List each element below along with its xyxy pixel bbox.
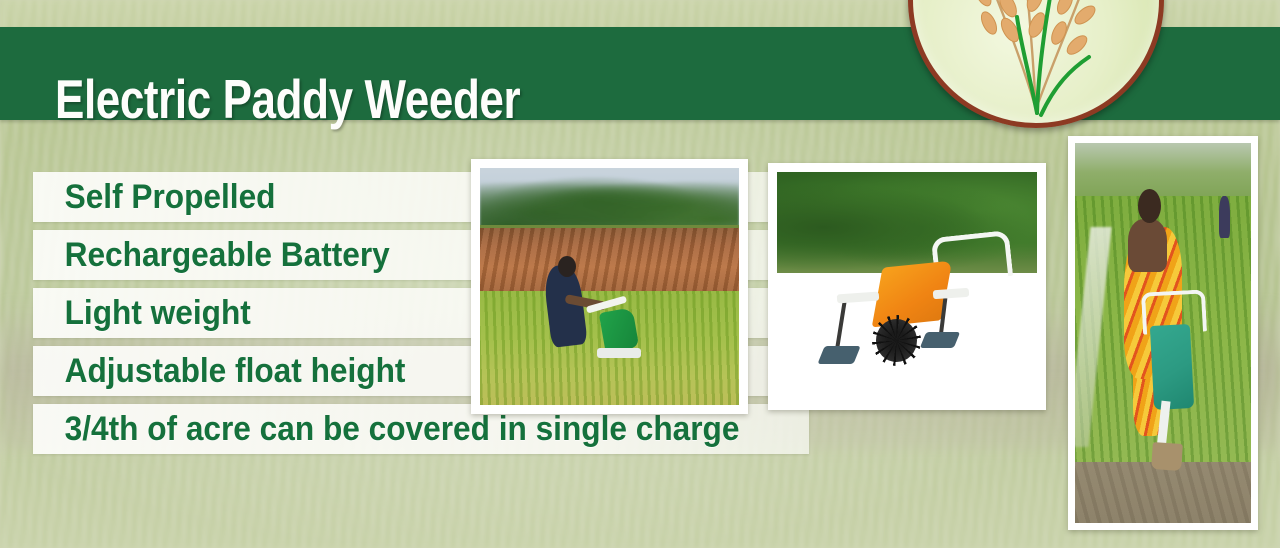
- photo1-earth-bank: [480, 225, 739, 299]
- photo-man-operating-green-weeder-in-paddy-field: [471, 159, 748, 414]
- feature-label: 3/4th of acre can be covered in single c…: [33, 410, 754, 449]
- photo-woman-operating-teal-weeder-in-paddy-field: [1068, 136, 1258, 530]
- page-title: Electric Paddy Weeder: [55, 67, 520, 131]
- photo1-weeder-base: [597, 348, 641, 357]
- photo3-operator-torso: [1128, 219, 1167, 272]
- poster-root: Electric Paddy Weeder: [0, 0, 1280, 548]
- photo-inner: [777, 172, 1037, 401]
- feature-label: Adjustable float height: [33, 352, 420, 391]
- photo2-float-plate-right: [919, 332, 959, 348]
- photo-inner: [480, 168, 739, 405]
- feature-label: Light weight: [33, 294, 266, 333]
- paddy-stalk-graphic: [913, 0, 1159, 123]
- photo3-operator-head: [1138, 189, 1161, 223]
- photo1-operator-head: [558, 256, 576, 277]
- photo3-weeder-body: [1150, 324, 1195, 410]
- feature-label: Rechargeable Battery: [33, 236, 405, 275]
- paddy-stalk-emblem-icon: [908, 0, 1164, 128]
- feature-label: Self Propelled: [33, 178, 290, 217]
- photo-inner: [1075, 143, 1251, 523]
- photo-orange-weeder-machine-on-soil: [768, 163, 1046, 410]
- photo2-rotary-tines: [876, 319, 918, 363]
- photo3-wet-mud: [1075, 462, 1251, 523]
- photo3-weeder-float: [1152, 442, 1184, 471]
- photo1-weeder-body: [598, 308, 638, 354]
- photo3-distant-person: [1219, 196, 1230, 238]
